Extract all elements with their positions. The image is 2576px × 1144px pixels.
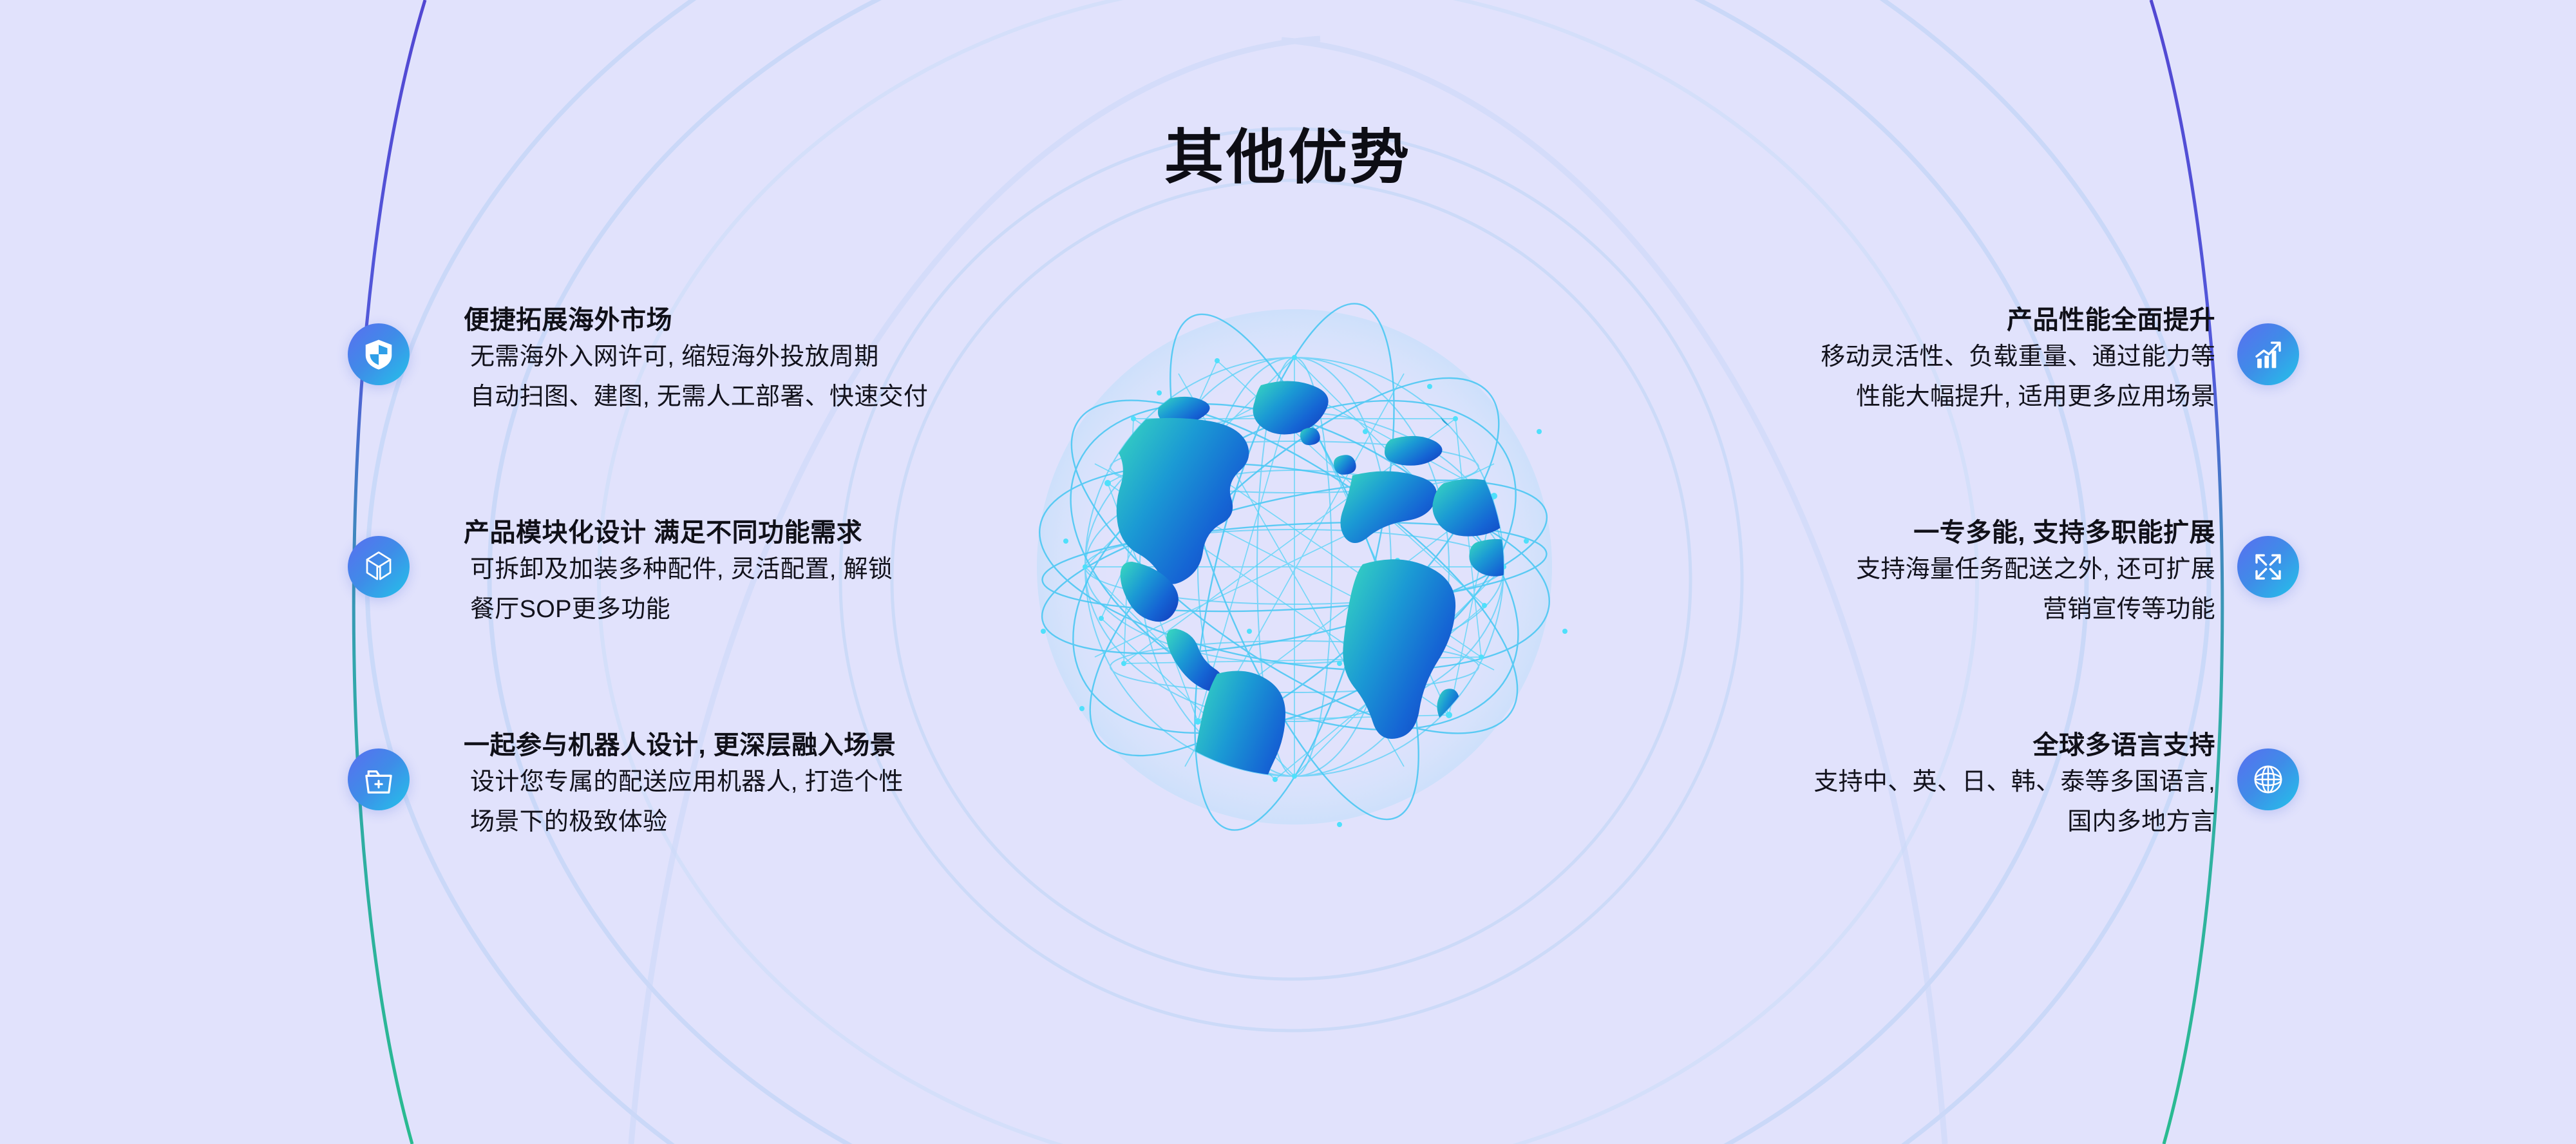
cube-icon[interactable] bbox=[348, 536, 410, 598]
feature-text: 全球多语言支持 支持中、英、日、韩、泰等多国语言, 国内多地方言 bbox=[1571, 728, 2215, 842]
feature-title: 全球多语言支持 bbox=[1571, 728, 2215, 763]
growth-chart-icon[interactable] bbox=[2237, 323, 2299, 385]
globe-illustration bbox=[1005, 271, 1584, 889]
feature-title: 一起参与机器人设计, 更深层融入场景 bbox=[464, 728, 1069, 763]
feature-title: 一专多能, 支持多职能扩展 bbox=[1571, 515, 2215, 550]
feature-line: 移动灵活性、负载重量、通过能力等 bbox=[1571, 338, 2215, 377]
feature-text: 一起参与机器人设计, 更深层融入场景 设计您专属的配送应用机器人, 打造个性 场… bbox=[464, 728, 1069, 842]
feature-text: 产品模块化设计 满足不同功能需求 可拆卸及加装多种配件, 灵活配置, 解锁 餐厅… bbox=[464, 515, 1069, 629]
feature-item[interactable]: 便捷拓展海外市场 无需海外入网许可, 缩短海外投放周期 自动扫图、建图, 无需人… bbox=[361, 303, 1069, 515]
expand-arrows-icon[interactable] bbox=[2237, 536, 2299, 598]
feature-text: 便捷拓展海外市场 无需海外入网许可, 缩短海外投放周期 自动扫图、建图, 无需人… bbox=[464, 303, 1069, 417]
feature-line: 可拆卸及加装多种配件, 灵活配置, 解锁 bbox=[464, 550, 1069, 590]
folder-add-icon[interactable] bbox=[348, 748, 410, 810]
feature-item[interactable]: 全球多语言支持 支持中、英、日、韩、泰等多国语言, 国内多地方言 bbox=[1571, 728, 2215, 940]
feature-line: 营销宣传等功能 bbox=[1571, 590, 2215, 630]
feature-item[interactable]: 产品模块化设计 满足不同功能需求 可拆卸及加装多种配件, 灵活配置, 解锁 餐厅… bbox=[361, 515, 1069, 728]
feature-title: 产品性能全面提升 bbox=[1571, 303, 2215, 338]
continents bbox=[1113, 381, 1522, 843]
feature-line: 场景下的极致体验 bbox=[464, 803, 1069, 843]
left-feature-column: 便捷拓展海外市场 无需海外入网许可, 缩短海外投放周期 自动扫图、建图, 无需人… bbox=[361, 303, 1069, 940]
feature-item[interactable]: 一专多能, 支持多职能扩展 支持海量任务配送之外, 还可扩展 营销宣传等功能 bbox=[1571, 515, 2215, 728]
feature-line: 无需海外入网许可, 缩短海外投放周期 bbox=[464, 338, 1069, 377]
feature-line: 餐厅SOP更多功能 bbox=[464, 590, 1069, 630]
feature-line: 支持中、英、日、韩、泰等多国语言, bbox=[1571, 763, 2215, 803]
feature-title: 产品模块化设计 满足不同功能需求 bbox=[464, 515, 1069, 550]
right-feature-column: 产品性能全面提升 移动灵活性、负载重量、通过能力等 性能大幅提升, 适用更多应用… bbox=[1571, 303, 2215, 940]
shield-icon[interactable] bbox=[348, 323, 410, 385]
feature-text: 一专多能, 支持多职能扩展 支持海量任务配送之外, 还可扩展 营销宣传等功能 bbox=[1571, 515, 2215, 629]
page-title: 其他优势 bbox=[0, 110, 2576, 195]
feature-item[interactable]: 一起参与机器人设计, 更深层融入场景 设计您专属的配送应用机器人, 打造个性 场… bbox=[361, 728, 1069, 940]
network-mesh bbox=[1085, 357, 1504, 779]
feature-line: 自动扫图、建图, 无需人工部署、快速交付 bbox=[464, 377, 1069, 417]
feature-line: 支持海量任务配送之外, 还可扩展 bbox=[1571, 550, 2215, 590]
feature-item[interactable]: 产品性能全面提升 移动灵活性、负载重量、通过能力等 性能大幅提升, 适用更多应用… bbox=[1571, 303, 2215, 515]
feature-text: 产品性能全面提升 移动灵活性、负载重量、通过能力等 性能大幅提升, 适用更多应用… bbox=[1571, 303, 2215, 417]
feature-title: 便捷拓展海外市场 bbox=[464, 303, 1069, 338]
orbital-tracks bbox=[1018, 285, 1571, 848]
globe-wireframe bbox=[1085, 357, 1504, 776]
globe-icon[interactable] bbox=[2237, 748, 2299, 810]
network-nodes bbox=[1041, 355, 1567, 827]
feature-line: 性能大幅提升, 适用更多应用场景 bbox=[1571, 377, 2215, 417]
feature-line: 国内多地方言 bbox=[1571, 803, 2215, 843]
feature-line: 设计您专属的配送应用机器人, 打造个性 bbox=[464, 763, 1069, 803]
